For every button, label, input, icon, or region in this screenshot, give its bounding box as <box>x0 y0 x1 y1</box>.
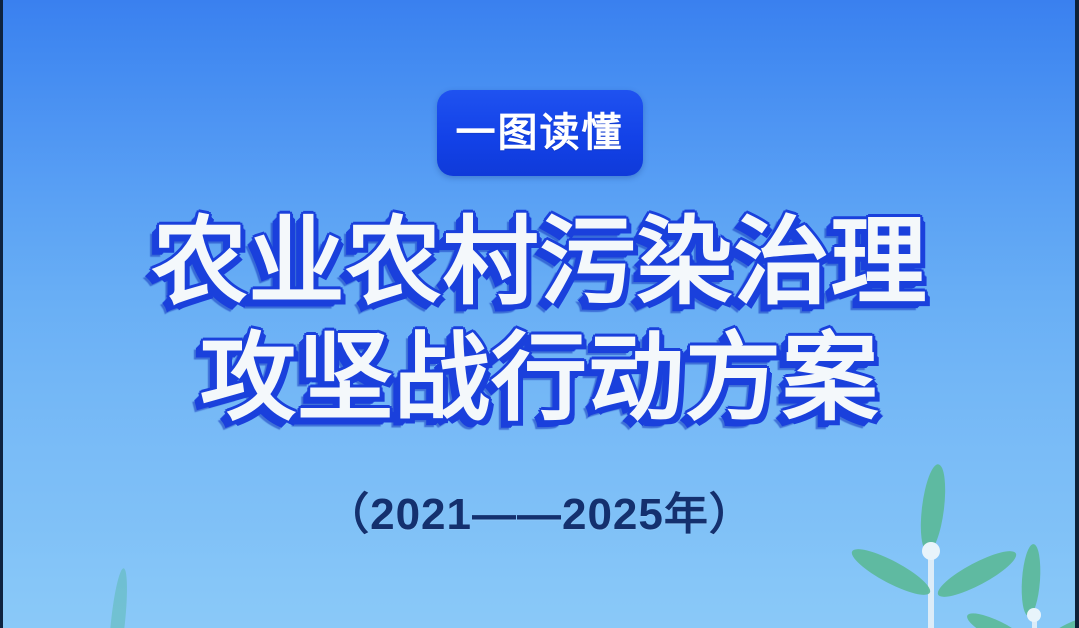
wind-turbine-second-icon <box>975 538 1079 628</box>
poster-subtitle-year-range: （2021——2025年） <box>0 478 1079 542</box>
badge-label: 一图读懂 <box>456 113 624 153</box>
infographic-poster: 一图读懂 农业农村污染治理 攻坚战行动方案 （2021——2025年） <box>0 0 1079 628</box>
read-in-one-picture-badge[interactable]: 一图读懂 <box>437 90 643 176</box>
title-line-2: 攻坚战行动方案 <box>0 328 1079 430</box>
title-line-1: 农业农村污染治理 <box>0 212 1079 314</box>
wind-turbine-faint-icon <box>60 556 230 628</box>
poster-title: 农业农村污染治理 攻坚战行动方案 <box>0 212 1079 430</box>
